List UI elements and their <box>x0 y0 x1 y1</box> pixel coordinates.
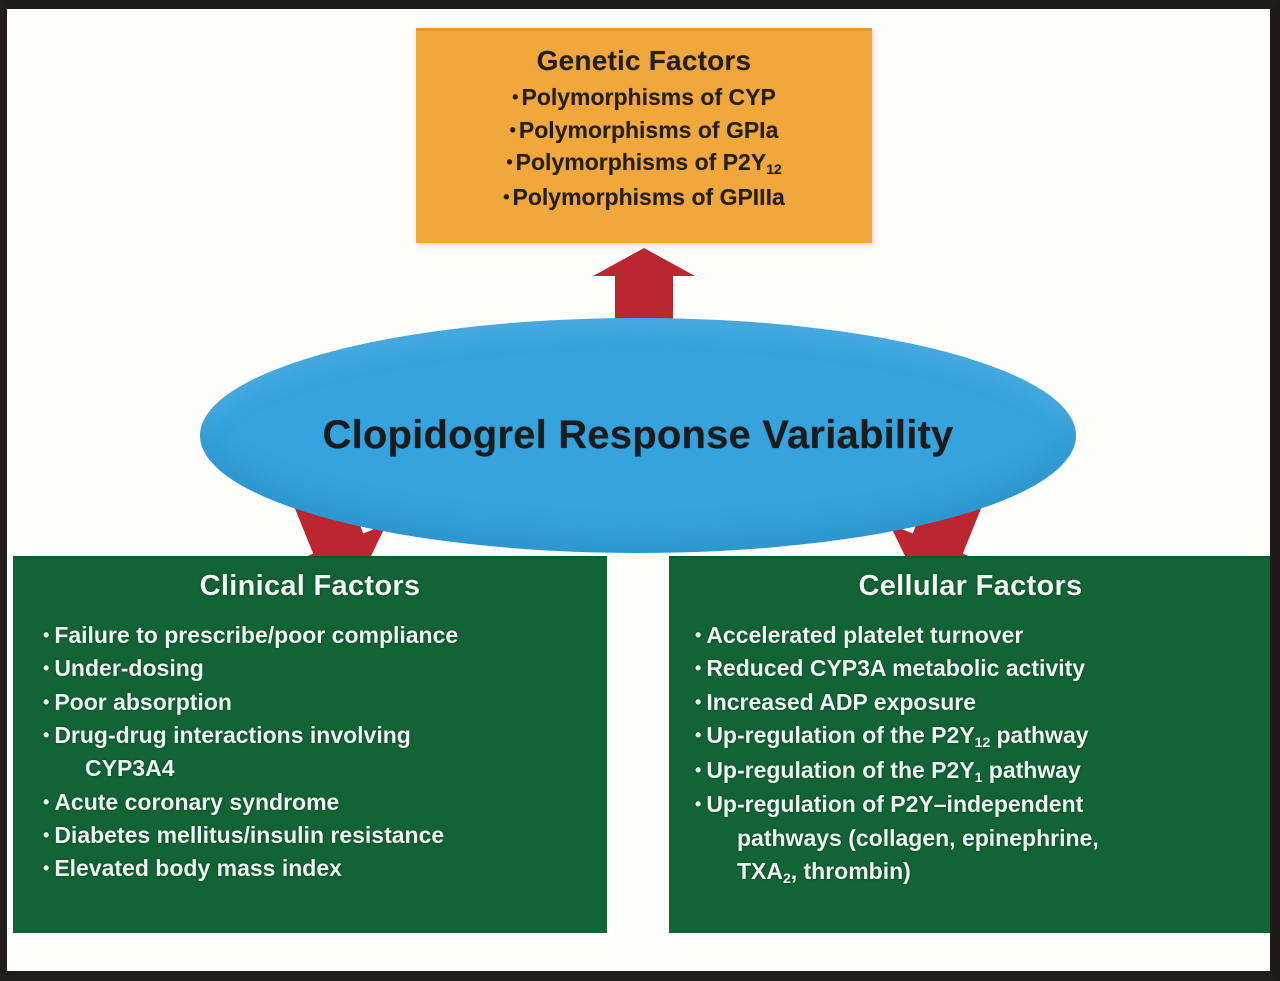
bullet-icon: • <box>43 692 49 712</box>
list-item: •Elevated body mass index <box>43 852 607 885</box>
list-item-subscript: 12 <box>975 735 990 751</box>
bullet-icon: • <box>512 87 518 107</box>
genetic-factors-list: •Polymorphisms of CYP •Polymorphisms of … <box>416 81 872 213</box>
list-item-text: Poor absorption <box>54 689 232 715</box>
list-item-text: Polymorphisms of GPIa <box>519 117 778 143</box>
bullet-icon: • <box>503 187 509 207</box>
list-item-text: Elevated body mass index <box>54 855 342 881</box>
center-node-label: Clopidogrel Response Variability <box>323 413 954 458</box>
list-item-text-after: , thrombin) <box>791 858 911 884</box>
list-item-text: CYP3A4 <box>85 755 174 781</box>
list-item: •Accelerated platelet turnover <box>695 619 1272 652</box>
bullet-icon: • <box>43 658 49 678</box>
list-item-text: Increased ADP exposure <box>706 689 976 715</box>
list-item: •Polymorphisms of P2Y12 <box>416 146 872 180</box>
list-item-text: pathways (collagen, epinephrine, <box>737 825 1099 851</box>
clinical-factors-box: Clinical Factors •Failure to prescribe/p… <box>13 556 607 933</box>
list-item: •Diabetes mellitus/insulin resistance <box>43 819 607 852</box>
list-item: •Up-regulation of the P2Y1 pathway <box>695 754 1272 789</box>
list-item-text: Drug-drug interactions involving <box>54 722 411 748</box>
list-item-text: Under-dosing <box>54 655 204 681</box>
bullet-icon: • <box>695 760 701 780</box>
clinical-factors-title: Clinical Factors <box>13 556 607 603</box>
list-item: •Up-regulation of P2Y–independent <box>695 788 1272 821</box>
bullet-icon: • <box>695 725 701 745</box>
list-item-continuation: CYP3A4 <box>43 752 607 785</box>
clopidogrel-response-variability-node: Clopidogrel Response Variability <box>200 318 1076 553</box>
bullet-icon: • <box>695 794 701 814</box>
list-item: •Reduced CYP3A metabolic activity <box>695 652 1272 685</box>
bullet-icon: • <box>43 858 49 878</box>
cellular-factors-list: •Accelerated platelet turnover •Reduced … <box>695 619 1272 890</box>
list-item-text-after: pathway <box>982 757 1080 783</box>
list-item: •Under-dosing <box>43 652 607 685</box>
list-item-text-after: pathway <box>990 722 1088 748</box>
list-item: •Polymorphisms of CYP <box>416 81 872 114</box>
list-item-text: Up-regulation of the P2Y <box>706 757 974 783</box>
genetic-factors-title: Genetic Factors <box>416 28 872 77</box>
bullet-icon: • <box>510 120 516 140</box>
list-item: •Increased ADP exposure <box>695 686 1272 719</box>
list-item-text: Failure to prescribe/poor compliance <box>54 622 458 648</box>
genetic-factors-box: Genetic Factors •Polymorphisms of CYP •P… <box>416 28 872 243</box>
bullet-icon: • <box>695 692 701 712</box>
list-item-text: TXA <box>737 858 783 884</box>
list-item-text: Polymorphisms of GPIIIa <box>513 184 785 210</box>
list-item-text: Up-regulation of P2Y–independent <box>706 791 1083 817</box>
list-item-text: Reduced CYP3A metabolic activity <box>706 655 1085 681</box>
list-item-subscript: 2 <box>783 871 791 887</box>
bullet-icon: • <box>43 825 49 845</box>
list-item: •Acute coronary syndrome <box>43 786 607 819</box>
list-item: •Up-regulation of the P2Y12 pathway <box>695 719 1272 754</box>
bullet-icon: • <box>695 658 701 678</box>
bullet-icon: • <box>506 152 512 172</box>
bullet-icon: • <box>43 792 49 812</box>
list-item-text: Acute coronary syndrome <box>54 789 339 815</box>
list-item: •Drug-drug interactions involving <box>43 719 607 752</box>
cellular-factors-box: Cellular Factors •Accelerated platelet t… <box>669 556 1272 933</box>
arrow-up-icon <box>585 248 703 326</box>
list-item-text: Polymorphisms of P2Y <box>516 149 767 175</box>
list-item: •Polymorphisms of GPIa <box>416 114 872 147</box>
list-item: •Polymorphisms of GPIIIa <box>416 181 872 214</box>
bullet-icon: • <box>43 625 49 645</box>
list-item-text: Polymorphisms of CYP <box>521 84 775 110</box>
list-item: •Failure to prescribe/poor compliance <box>43 619 607 652</box>
list-item-subscript: 12 <box>766 162 781 178</box>
clinical-factors-list: •Failure to prescribe/poor compliance •U… <box>43 619 607 886</box>
cellular-factors-title: Cellular Factors <box>669 556 1272 603</box>
list-item-continuation: pathways (collagen, epinephrine, <box>695 822 1272 855</box>
list-item-text: Accelerated platelet turnover <box>706 622 1023 648</box>
bullet-icon: • <box>43 725 49 745</box>
list-item-text: Up-regulation of the P2Y <box>706 722 974 748</box>
list-item-text: Diabetes mellitus/insulin resistance <box>54 822 444 848</box>
list-item-continuation: TXA2, thrombin) <box>695 855 1272 890</box>
bullet-icon: • <box>695 625 701 645</box>
figure-canvas: Genetic Factors •Polymorphisms of CYP •P… <box>0 0 1280 981</box>
list-item: •Poor absorption <box>43 686 607 719</box>
